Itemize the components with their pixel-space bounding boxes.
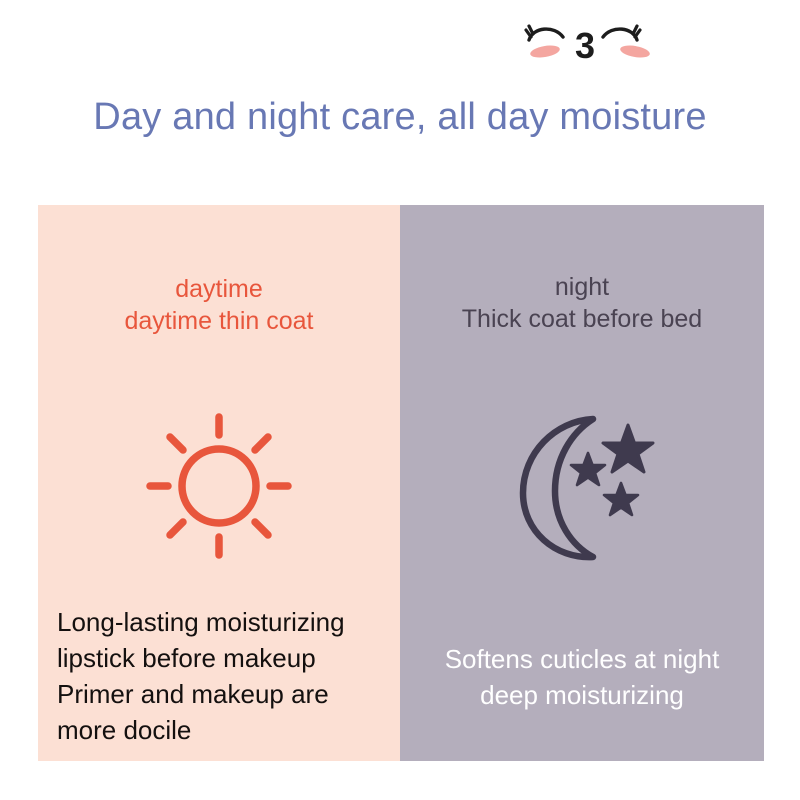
daytime-heading: daytime daytime thin coat xyxy=(38,273,400,337)
kaomoji-face: 3 xyxy=(520,14,670,76)
night-icon-wrap xyxy=(400,405,764,565)
daytime-caption: Long-lasting moisturizing lipstick befor… xyxy=(57,605,402,749)
daytime-heading-line2: daytime thin coat xyxy=(38,305,400,337)
night-caption-line2: deep moisturizing xyxy=(400,678,764,714)
daytime-caption-line1: Long-lasting moisturizing xyxy=(57,605,402,641)
night-heading: night Thick coat before bed xyxy=(400,271,764,335)
night-heading-line1: night xyxy=(400,271,764,303)
daytime-caption-line4: more docile xyxy=(57,713,402,749)
day-night-comparison: daytime daytime thin coat Long-last xyxy=(38,205,764,761)
night-panel: night Thick coat before bed Softens cuti… xyxy=(400,205,764,761)
daytime-caption-line3: Primer and makeup are xyxy=(57,677,402,713)
eye-right-icon xyxy=(598,22,642,52)
eye-left-icon xyxy=(524,22,568,52)
daytime-icon-wrap xyxy=(38,411,400,561)
sun-icon xyxy=(144,411,294,561)
night-heading-line2: Thick coat before bed xyxy=(400,303,764,335)
page-title: Day and night care, all day moisture xyxy=(0,96,800,139)
moon-and-stars-icon xyxy=(497,405,667,565)
daytime-heading-line1: daytime xyxy=(38,273,400,305)
mouth-glyph: 3 xyxy=(575,28,595,64)
daytime-caption-line2: lipstick before makeup xyxy=(57,641,402,677)
night-caption-line1: Softens cuticles at night xyxy=(400,642,764,678)
daytime-panel: daytime daytime thin coat Long-last xyxy=(38,205,400,761)
night-caption: Softens cuticles at night deep moisturiz… xyxy=(400,642,764,714)
